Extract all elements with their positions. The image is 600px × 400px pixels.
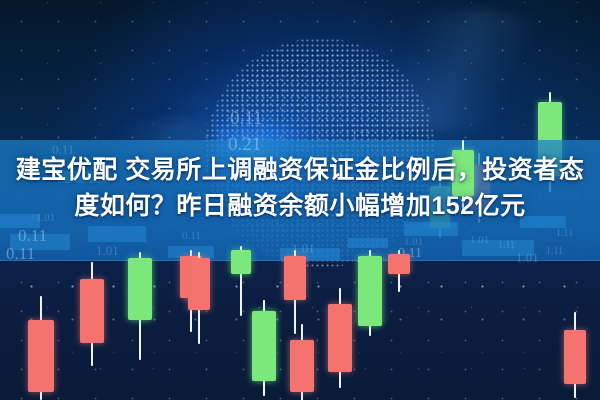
candle-body [28,320,54,392]
page-title: 建宝优配 交易所上调融资保证金比例后，投资者态 度如何？昨日融资余额小幅增加15… [0,152,600,224]
candle-body [80,279,104,343]
headline-line-1: 建宝优配 交易所上调融资保证金比例后，投资者态 [0,152,600,188]
candle-body [231,250,251,274]
candle-body [252,311,276,381]
candle-body [188,258,210,310]
candle-body [290,340,314,392]
candle-body [564,330,586,384]
article-thumbnail: 0.110.211.111.110.110.111.010.110.111.01… [0,0,600,400]
candle-body [388,254,410,274]
candle-body [358,256,382,326]
candle-body [328,304,352,372]
headline-line-2: 度如何？昨日融资余额小幅增加152亿元 [0,188,600,224]
candle-body [128,258,152,320]
